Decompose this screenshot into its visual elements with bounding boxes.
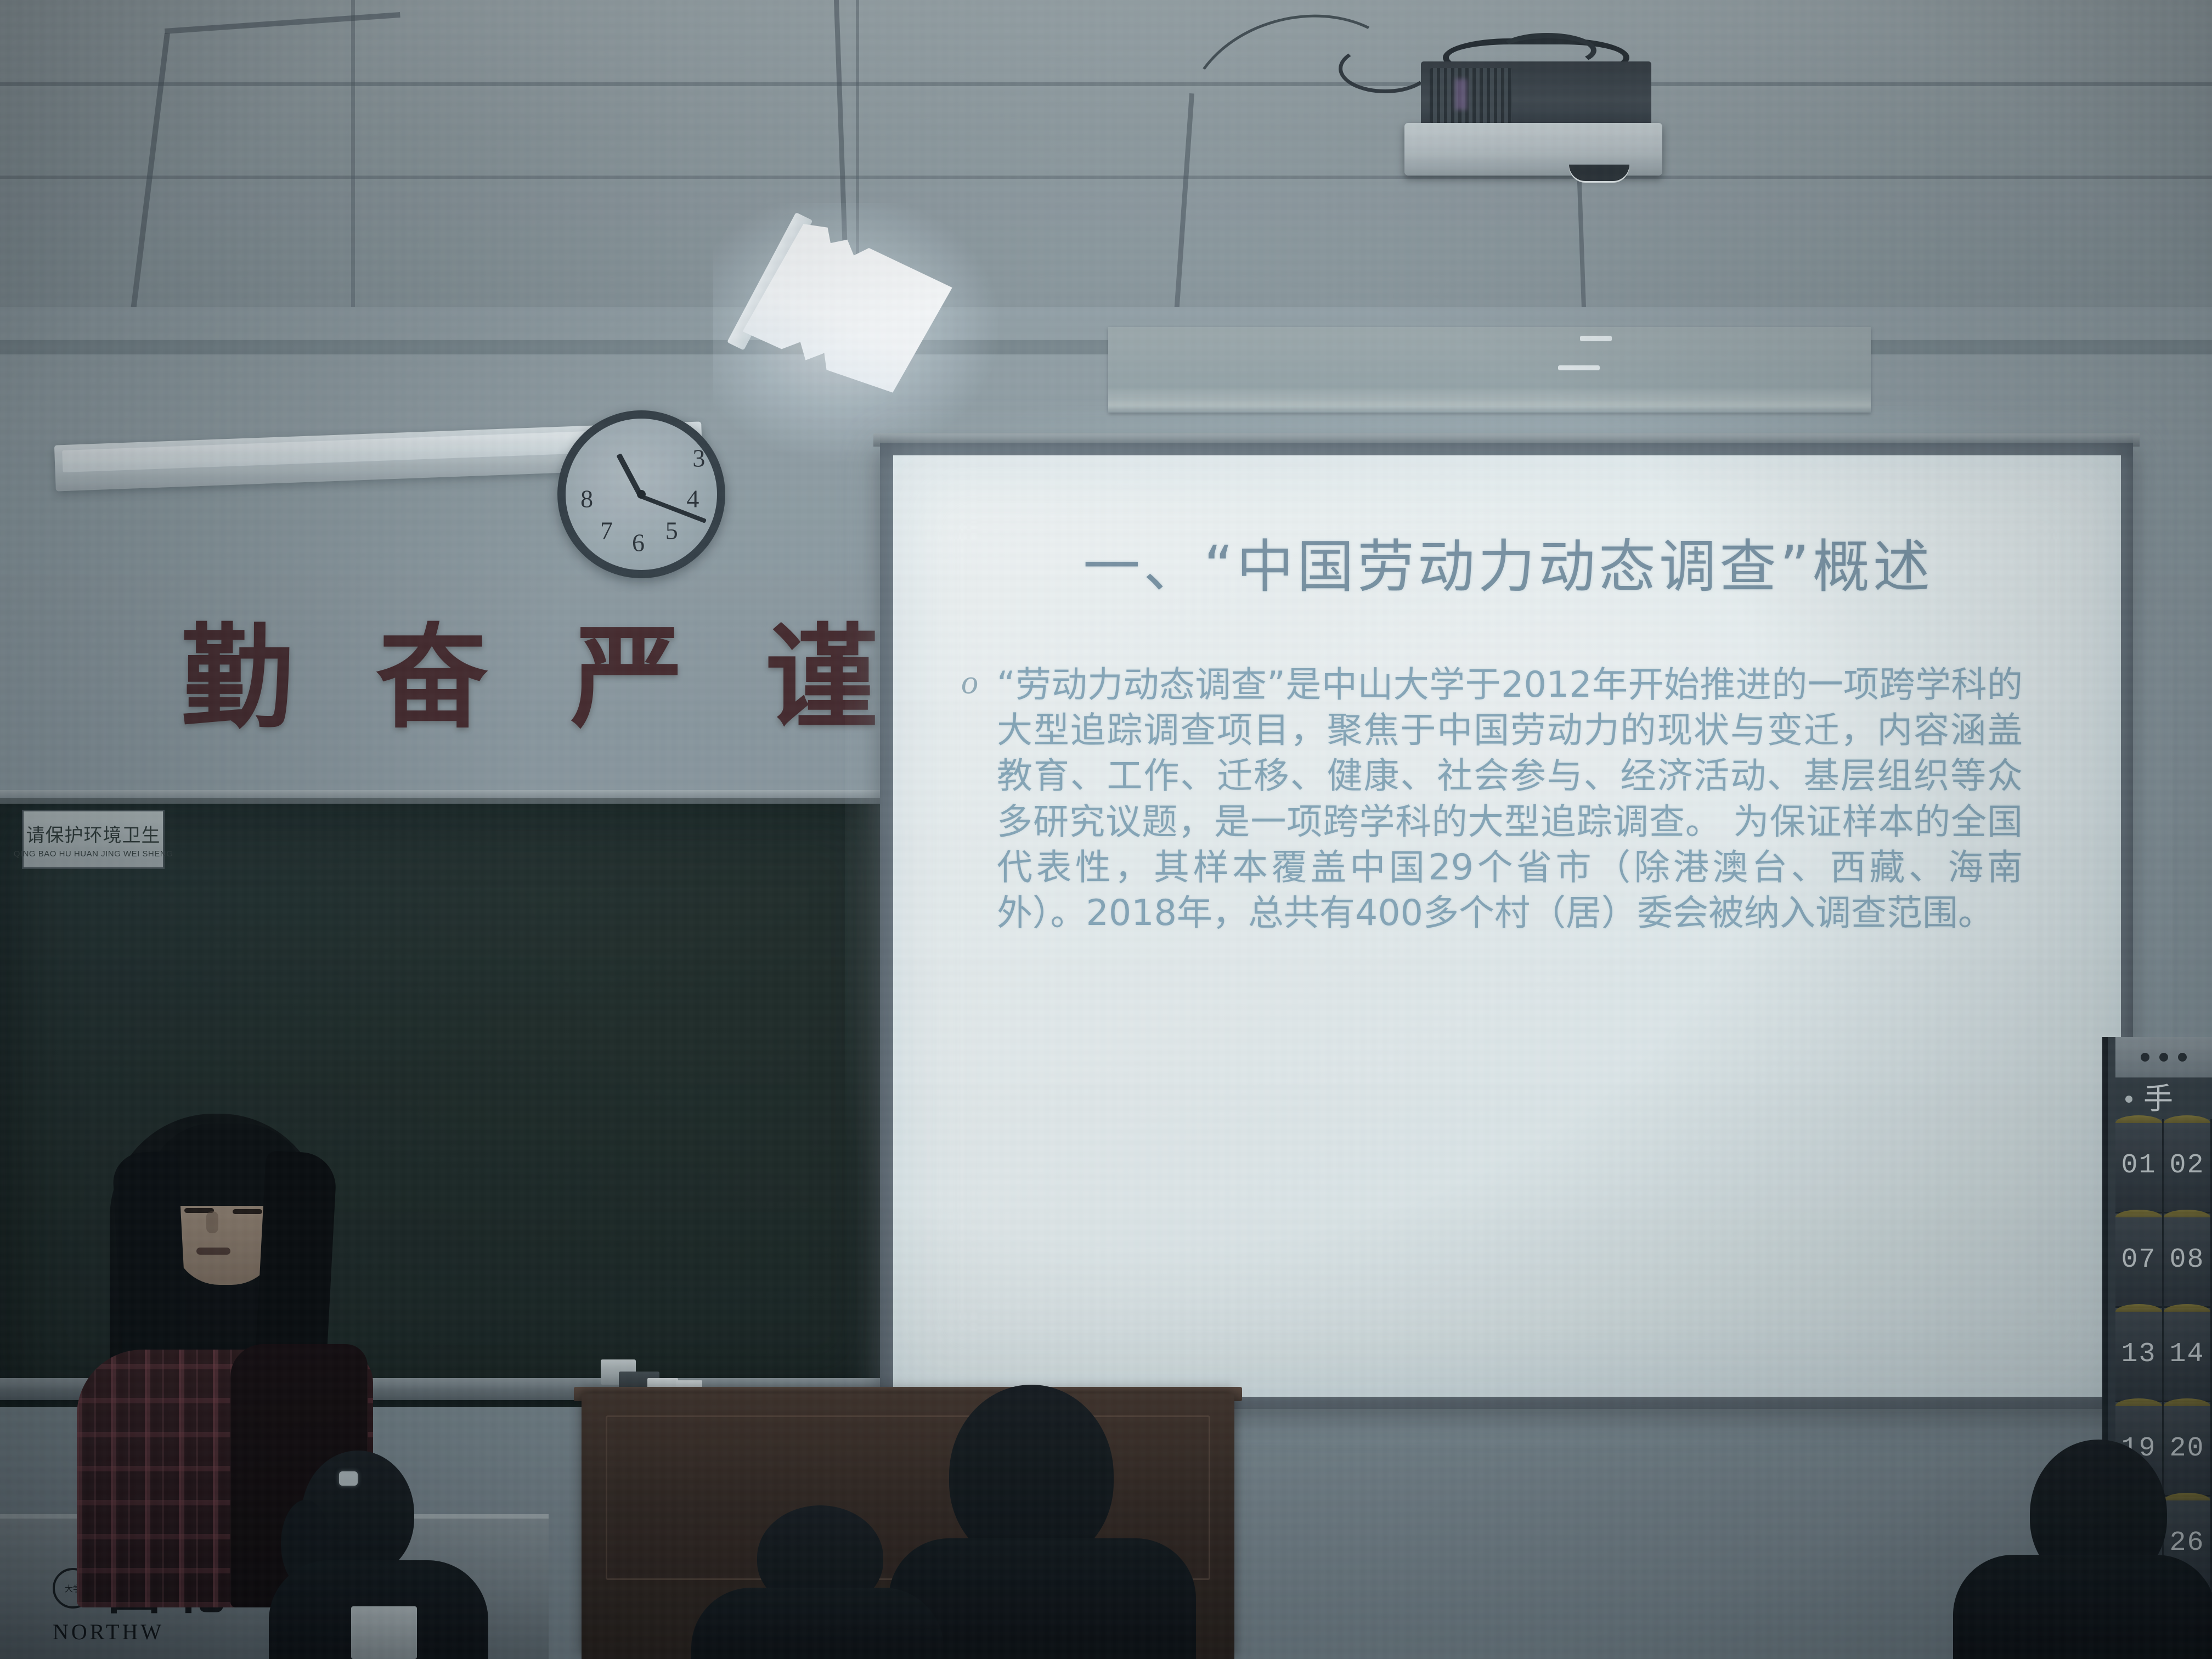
logo-english-text: NORTHW (53, 1619, 230, 1645)
beam-glint (1580, 336, 1612, 341)
slot-number: 13 (2121, 1339, 2156, 1370)
student-silhouette (1953, 1478, 2212, 1659)
slogan-char-4: 谨 (765, 623, 878, 735)
presenter-mouth (196, 1248, 230, 1255)
clock-center-pin (637, 490, 646, 499)
ceiling-seam (0, 82, 2212, 86)
sign-text-chinese: 请保护环境卫生 (26, 820, 161, 847)
slot-number: 20 (2169, 1433, 2204, 1464)
slide: 一、“中国劳动力动态调查”概述 o “劳动力动态调查”是中山大学于2012年开始… (893, 455, 2121, 1397)
phone-slot[interactable]: 13 (2115, 1308, 2164, 1402)
beam-glint (1558, 365, 1600, 370)
student-shoulders (1953, 1555, 2212, 1659)
bullet-dot-icon (2125, 1096, 2132, 1103)
wall-beam (1108, 327, 1871, 413)
hair-clip (339, 1471, 358, 1486)
projection-screen: 一、“中国劳动力动态调查”概述 o “劳动力动态调查”是中山大学于2012年开始… (893, 455, 2121, 1397)
classroom-photo: 3 4 5 6 7 8 勤 奋 严 谨 请保护环境卫生 QING BAO HU … (0, 0, 2212, 1659)
wall-band (0, 340, 2212, 354)
presenter-eye (233, 1209, 262, 1214)
phone-slot[interactable]: 01 (2115, 1119, 2164, 1214)
projector-lens (1569, 165, 1629, 181)
slot-number: 01 (2121, 1150, 2156, 1181)
wall-slogan: 勤 奋 严 谨 (181, 623, 878, 735)
ceiling-seam (351, 0, 355, 307)
sign-text-pinyin: QING BAO HU HUAN JING WEI SHENG (14, 849, 173, 859)
slogan-char-1: 勤 (181, 623, 294, 735)
phone-board-title: 手 (2143, 1084, 2173, 1114)
presenter-nose (206, 1211, 218, 1233)
environment-notice-sign: 请保护环境卫生 QING BAO HU HUAN JING WEI SHENG (22, 810, 165, 869)
phone-slot[interactable]: 14 (2164, 1308, 2212, 1402)
slot-number: 07 (2121, 1244, 2156, 1276)
projector-wire (1339, 44, 1432, 93)
slot-number: 02 (2169, 1150, 2204, 1181)
phone-slot[interactable]: 08 (2164, 1214, 2212, 1308)
projection-screen-frame: 一、“中国劳动力动态调查”概述 o “劳动力动态调查”是中山大学于2012年开始… (880, 442, 2133, 1409)
slogan-char-3: 严 (571, 623, 683, 735)
clock-numeral-7: 7 (600, 516, 613, 545)
projector-vent (1430, 68, 1512, 123)
clock-numeral-3: 3 (692, 443, 705, 472)
phone-board-header (2115, 1037, 2212, 1077)
student-shoulders (691, 1588, 944, 1659)
bullet-marker-icon: o (961, 665, 978, 936)
clock-numeral-5: 5 (665, 516, 678, 545)
clock-numeral-4: 4 (686, 484, 699, 513)
clock-numeral-8: 8 (580, 484, 593, 513)
ceiling (0, 0, 2212, 340)
student-silhouette (691, 1538, 944, 1659)
student-silhouette (269, 1478, 488, 1659)
projector-indicator-glow (1455, 79, 1467, 110)
wall-clock: 3 4 5 6 7 8 (557, 410, 725, 578)
phone-slot[interactable]: 02 (2164, 1119, 2212, 1214)
slogan-char-2: 奋 (376, 623, 488, 735)
ceiling-seam (0, 176, 2212, 179)
student-collar (351, 1606, 417, 1659)
slide-title: 一、“中国劳动力动态调查”概述 (946, 520, 2070, 603)
clock-numeral-6: 6 (632, 528, 645, 557)
slide-body-text: “劳动力动态调查”是中山大学于2012年开始推进的一项跨学科的大型追踪调查项目，… (997, 662, 2023, 936)
mount-hole-icon (2159, 1053, 2168, 1062)
slot-number: 14 (2169, 1339, 2204, 1370)
mount-hole-icon (2178, 1053, 2187, 1062)
ceiling-projector (1404, 33, 1679, 176)
phone-board-title-row: 手 (2115, 1082, 2212, 1116)
slot-number: 08 (2169, 1244, 2204, 1276)
slide-body: o “劳动力动态调查”是中山大学于2012年开始推进的一项跨学科的大型追踪调查项… (946, 662, 2070, 936)
mount-hole-icon (2141, 1053, 2149, 1062)
phone-slot[interactable]: 07 (2115, 1214, 2164, 1308)
